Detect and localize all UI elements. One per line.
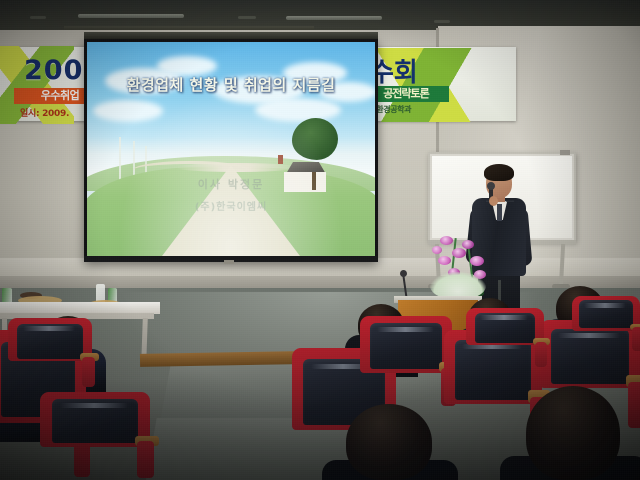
person-front-right-head [526, 386, 620, 480]
person-front-mid-head [346, 404, 432, 480]
audience-front-row [0, 0, 640, 480]
lecture-hall-photo: 200 우수취업 일시: 2009. 수회 공전략토론 학교 환경공학과 환경업… [0, 0, 640, 480]
